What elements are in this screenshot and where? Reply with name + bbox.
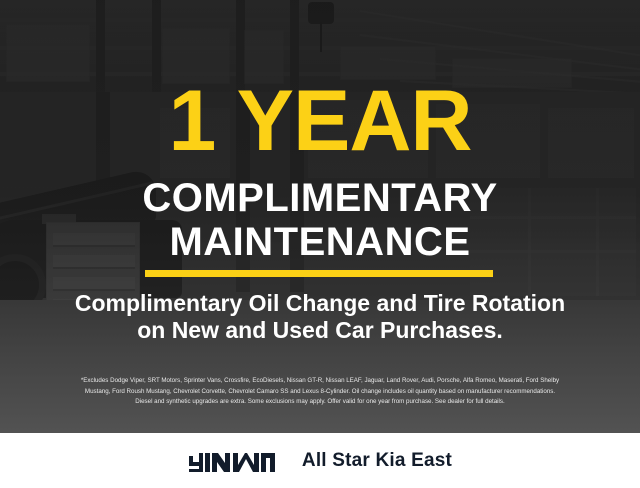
disclaimer-text: *Excludes Dodge Viper, SRT Motors, Sprin… [14,376,626,408]
disclaimer-line-2: Mustang, Ford Roush Mustang, Chevrolet C… [14,387,626,398]
dealer-name: All Star Kia East [302,450,452,472]
yellow-divider [145,270,493,277]
promotional-banner: 1 YEAR COMPLIMENTARY MAINTENANCE Complim… [0,0,640,488]
headline-year: 1 YEAR [0,78,640,164]
disclaimer-line-1: *Excludes Dodge Viper, SRT Motors, Sprin… [14,376,626,387]
subheadline-line-2: on New and Used Car Purchases. [0,317,640,344]
disclaimer-line-3: Diesel and synthetic upgrades are extra.… [14,397,626,408]
banner-footer: All Star Kia East [0,433,640,488]
subheadline-line-1: Complimentary Oil Change and Tire Rotati… [0,290,640,317]
headline-complimentary: COMPLIMENTARY [0,178,640,218]
subheadline: Complimentary Oil Change and Tire Rotati… [0,290,640,344]
kia-logo [188,449,276,473]
headline-maintenance: MAINTENANCE [0,222,640,262]
banner-content: 1 YEAR COMPLIMENTARY MAINTENANCE Complim… [0,0,640,433]
